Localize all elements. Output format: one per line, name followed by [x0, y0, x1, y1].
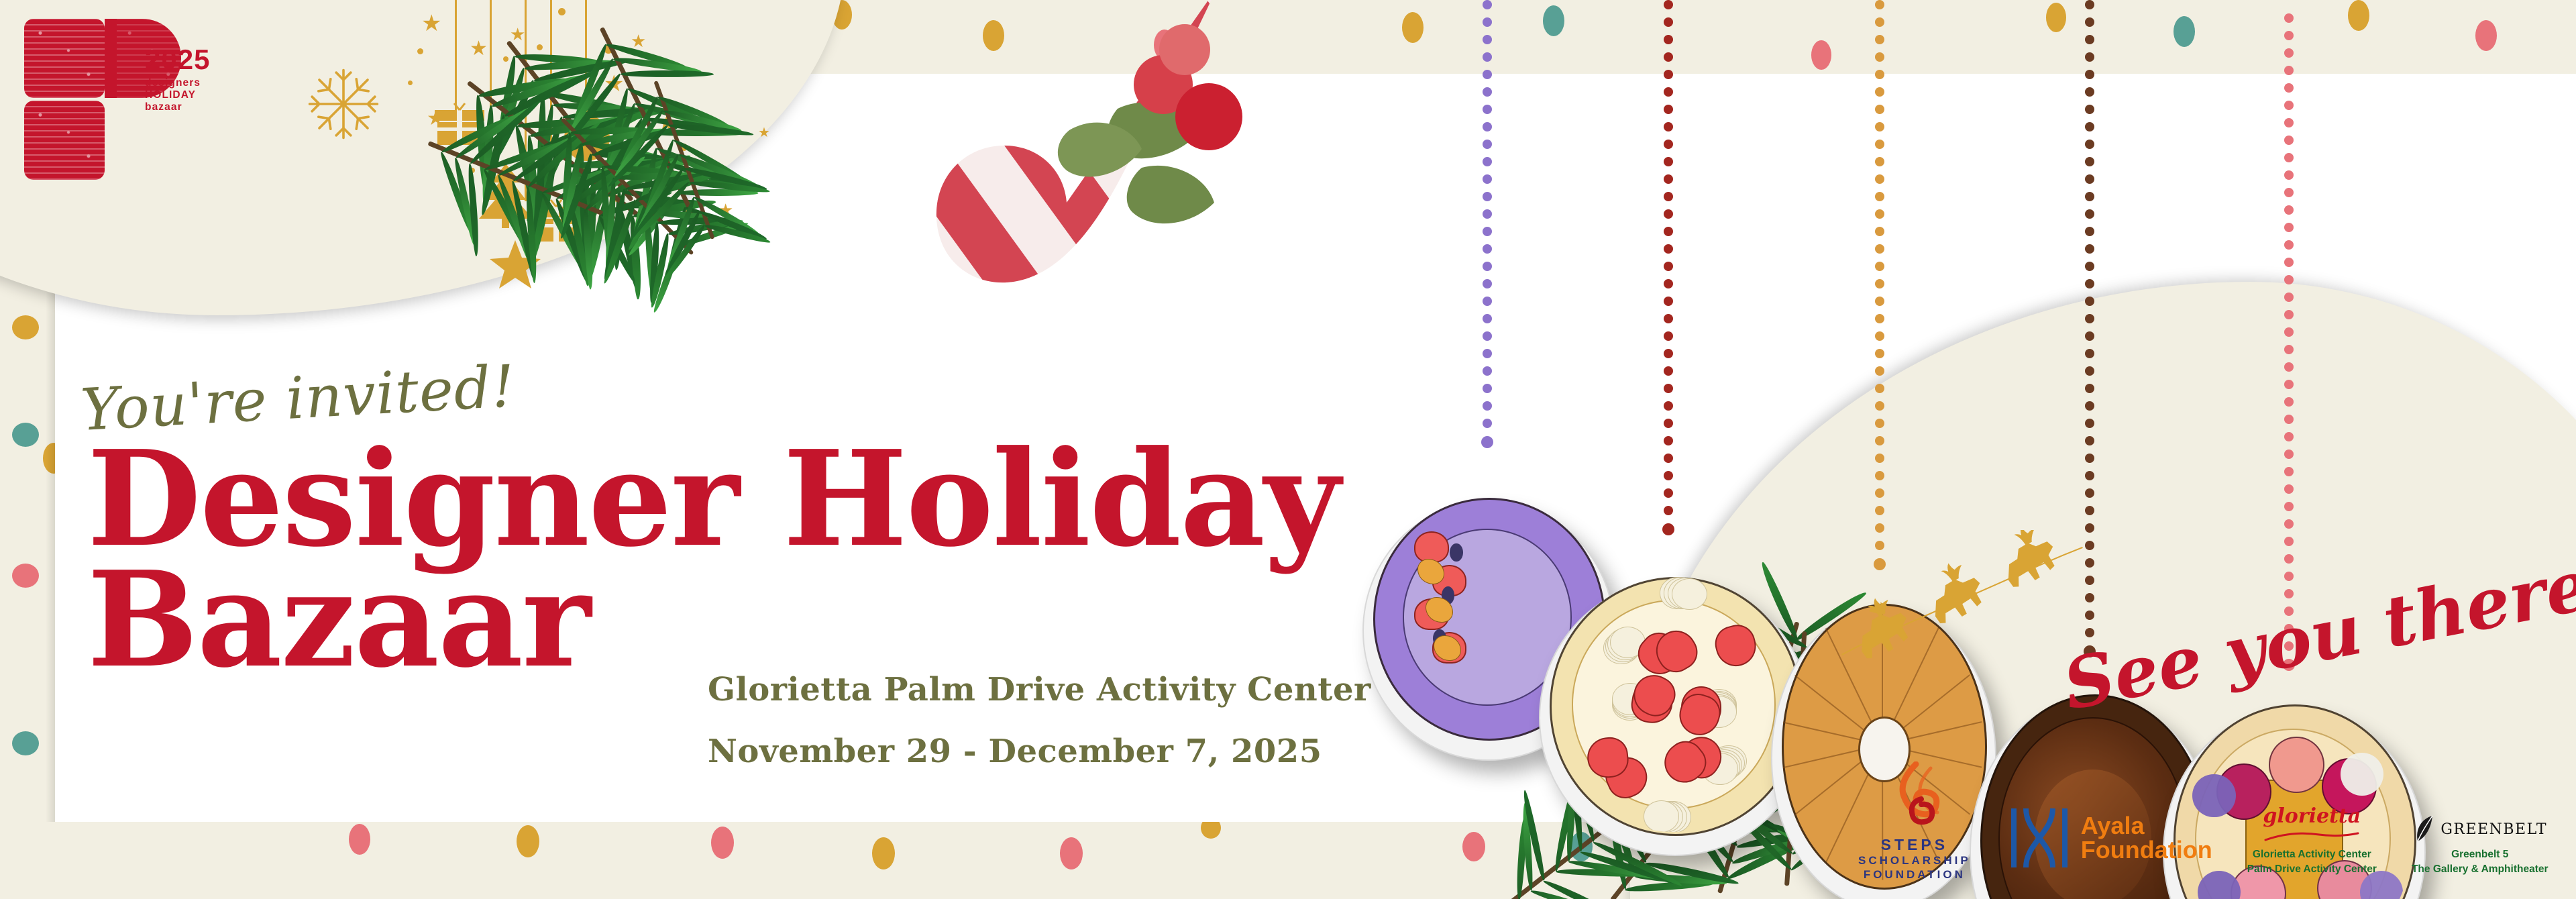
- ornament-bead: [1664, 0, 1673, 9]
- holiday-bazaar-banner: ★★★★★★★★★★★: [0, 0, 2576, 899]
- ornament-bead: [2085, 209, 2094, 219]
- ornament-bead: [2085, 506, 2094, 515]
- ornament-bead: [2284, 310, 2294, 319]
- confetti-dot: [1462, 832, 1485, 861]
- confetti-dot: [12, 731, 39, 755]
- ornament-bead: [1664, 105, 1673, 114]
- star-icon: ★: [758, 126, 770, 140]
- ornament-bead: [1875, 140, 1884, 149]
- ornament-bead: [2085, 262, 2094, 271]
- ornament-bead: [1664, 157, 1673, 166]
- headline-line-2: Bazaar: [87, 557, 590, 683]
- ornament-bead: [1875, 384, 1884, 393]
- confetti-dot: [12, 315, 39, 339]
- ornament-bead: [1483, 349, 1492, 358]
- ornament-bead: [2284, 432, 2294, 441]
- ornament-bead: [1483, 227, 1492, 236]
- ornament-bead: [1483, 105, 1492, 114]
- ornament-bead: [1664, 17, 1673, 27]
- ornament-bead: [1483, 157, 1492, 166]
- ornament-bead: [2085, 314, 2094, 323]
- confetti-dot: [1811, 40, 1831, 70]
- ornament-bead: [1875, 35, 1884, 44]
- ornament-bead: [2085, 419, 2094, 428]
- ornament-bead: [1664, 140, 1673, 149]
- gold-dot: [558, 8, 566, 15]
- ornament-bead: [1483, 366, 1492, 376]
- ornament-bead: [1483, 209, 1492, 219]
- logo-year: 2025: [145, 46, 210, 74]
- ornament-bead: [1483, 35, 1492, 44]
- ornament-bead: [1875, 122, 1884, 131]
- ornament-bead: [2085, 227, 2094, 236]
- ornament-bead: [1483, 174, 1492, 184]
- ornament-bead: [1664, 209, 1673, 219]
- ornament-bead: [1662, 523, 1674, 535]
- ornament-bead: [2284, 397, 2294, 407]
- ornament-bead: [1664, 279, 1673, 288]
- ornament-bead: [1664, 227, 1673, 236]
- ornament-bead: [1875, 262, 1884, 271]
- ornament-bead: [1483, 279, 1492, 288]
- sponsor-greenbelt[interactable]: GREENBELT Greenbelt 5 The Gallery & Amph…: [2412, 814, 2548, 882]
- ornament-bead: [1875, 436, 1884, 445]
- ornament-bead: [1664, 488, 1673, 498]
- ornament-bead: [2284, 83, 2294, 93]
- ornament-bead: [2284, 484, 2294, 494]
- ornament-bead: [1875, 227, 1884, 236]
- steps-title-1: STEPS: [1858, 835, 1971, 854]
- ornament-bead: [2284, 240, 2294, 250]
- ornament-bead: [2284, 223, 2294, 232]
- ornament-bead: [1664, 419, 1673, 428]
- ornament-bead: [1483, 401, 1492, 411]
- snowflake-icon: [303, 64, 384, 144]
- ornament-bead: [1875, 488, 1884, 498]
- confetti-dot: [872, 837, 895, 869]
- ornament-bead: [1875, 209, 1884, 219]
- ornament-bead: [1875, 401, 1884, 411]
- ornament-bead: [1875, 419, 1884, 428]
- steps-title-2: SCHOLARSHIP: [1858, 854, 1971, 868]
- steps-ribbon-icon: [1874, 761, 1955, 835]
- ornament-bead: [2085, 454, 2094, 463]
- ornament-bead: [2085, 70, 2094, 79]
- ornament-bead: [1483, 192, 1492, 201]
- ornament-bead: [2284, 258, 2294, 267]
- ornament-bead: [1875, 244, 1884, 254]
- star-icon: ★: [510, 25, 525, 43]
- ornament-bead: [2085, 105, 2094, 114]
- greenbelt-leaf-icon: [2412, 814, 2439, 844]
- ornament-bead: [2284, 449, 2294, 459]
- confetti-dot: [2348, 0, 2369, 31]
- ornament-bead: [1483, 331, 1492, 341]
- ornament-bead: [2284, 188, 2294, 197]
- ornament-bead: [1664, 192, 1673, 201]
- pine-needle: [613, 109, 666, 178]
- ornament-bead: [2284, 589, 2294, 598]
- ornament-bead: [2284, 327, 2294, 337]
- ornament-bead: [2284, 13, 2294, 23]
- ornament-bead: [1664, 471, 1673, 480]
- ornament-bead: [2284, 66, 2294, 75]
- ornament-bead: [2085, 331, 2094, 341]
- ornament-bead: [2085, 0, 2094, 9]
- ornament-bead: [1875, 105, 1884, 114]
- ornament-bead: [1483, 297, 1492, 306]
- ayala-title-1: Ayala: [2081, 814, 2212, 837]
- ornament-bead: [1875, 192, 1884, 201]
- ornament-bead: [2085, 52, 2094, 62]
- ornament-bead: [1875, 331, 1884, 341]
- ornament-bead: [2085, 192, 2094, 201]
- confetti-dot: [517, 825, 539, 857]
- confetti-dot: [349, 824, 370, 855]
- ornament-bead: [1664, 35, 1673, 44]
- steps-title-3: FOUNDATION: [1858, 868, 1971, 882]
- greenbelt-wordmark: GREENBELT: [2440, 821, 2547, 838]
- ornament-bead: [1875, 279, 1884, 288]
- ornament-bead: [2085, 17, 2094, 27]
- confetti-dot: [12, 423, 39, 447]
- ornament-bead: [1481, 436, 1493, 448]
- sponsor-glorietta[interactable]: glorietta Glorietta Activity Center Palm…: [2247, 804, 2377, 882]
- glorietta-swash-icon: [2261, 828, 2362, 844]
- ornament-bead: [2085, 122, 2094, 131]
- ornament-bead: [1875, 297, 1884, 306]
- ornament-bead: [2085, 471, 2094, 480]
- pine-needle: [621, 70, 714, 77]
- ornament-bead: [1664, 436, 1673, 445]
- ornament-bead: [1483, 17, 1492, 27]
- ornament-bead: [1875, 157, 1884, 166]
- ornament-bead: [2284, 572, 2294, 581]
- ornament-bead: [2284, 554, 2294, 564]
- ornament-bead: [2284, 170, 2294, 180]
- ornament-bead: [2284, 275, 2294, 284]
- gold-dot: [417, 48, 423, 54]
- ornament-bead: [2284, 502, 2294, 511]
- confetti-dot: [12, 564, 39, 588]
- dhb-logo: 2025 designers HOLIDAY bazaar: [17, 7, 286, 114]
- logo-line1: designers: [145, 77, 201, 89]
- confetti-dot: [2046, 3, 2066, 32]
- venue-text: Glorietta Palm Drive Activity Center: [708, 671, 1371, 708]
- ornament-bead: [2284, 345, 2294, 354]
- ornament-bead: [2284, 293, 2294, 302]
- ornament-bead: [2284, 136, 2294, 145]
- ornament-bead: [2085, 35, 2094, 44]
- greenbelt-caption-1: Greenbelt 5: [2412, 847, 2548, 862]
- ornament-bead: [2085, 436, 2094, 445]
- ornament-bead: [2284, 362, 2294, 372]
- ornament-bead: [2284, 31, 2294, 40]
- ornament-bead: [1664, 122, 1673, 131]
- ornament-bead: [2085, 297, 2094, 306]
- ornament-bead: [2085, 140, 2094, 149]
- ornament-bead: [1483, 52, 1492, 62]
- confetti-dot: [711, 827, 734, 859]
- ornament-bead: [1875, 366, 1884, 376]
- ornament-bead: [2085, 157, 2094, 166]
- ornament-bead: [1483, 70, 1492, 79]
- ornament-bead: [1875, 349, 1884, 358]
- ornament-bead: [1875, 17, 1884, 27]
- greenbelt-caption-2: The Gallery & Amphitheater: [2412, 862, 2548, 877]
- ornament-bead: [2284, 205, 2294, 215]
- ornament-bead: [1875, 471, 1884, 480]
- ornament-bead: [1664, 244, 1673, 254]
- ornament-bead: [1875, 314, 1884, 323]
- ornament-bead: [1483, 419, 1492, 428]
- star-icon: ★: [470, 39, 488, 59]
- ornament-bead: [1664, 87, 1673, 97]
- star-icon: ★: [421, 12, 441, 35]
- ornament-bead: [2085, 279, 2094, 288]
- ornament-bead: [1483, 384, 1492, 393]
- ornament-bead: [1483, 140, 1492, 149]
- ornament-bead: [1875, 0, 1884, 9]
- ornament-bead: [2085, 349, 2094, 358]
- glorietta-caption-1: Glorietta Activity Center: [2247, 847, 2377, 862]
- dates-text: November 29 - December 7, 2025: [708, 733, 1322, 770]
- ornament-bead: [2284, 519, 2294, 529]
- gold-dot: [408, 81, 413, 85]
- ornament-bead: [1664, 297, 1673, 306]
- ayala-mark-icon: [2006, 806, 2073, 870]
- ornament-bead: [2284, 467, 2294, 476]
- ornament-bead: [2085, 244, 2094, 254]
- confetti-dot: [2475, 20, 2497, 51]
- ornament-bead: [1875, 174, 1884, 184]
- gold-dot: [537, 44, 543, 50]
- cake-strawberry-banana-cream-pie: [1550, 577, 1802, 836]
- ornament-bead: [1664, 401, 1673, 411]
- sponsor-logos: STEPS SCHOLARSHIP FOUNDATION Ayala Found…: [1858, 761, 2548, 882]
- ayala-title-2: Foundation: [2081, 838, 2212, 861]
- ornament-bead: [1664, 366, 1673, 376]
- ornament-bead: [2284, 48, 2294, 58]
- glorietta-caption-2: Palm Drive Activity Center: [2247, 862, 2377, 877]
- ornament-bead: [1483, 314, 1492, 323]
- sponsor-ayala-foundation[interactable]: Ayala Foundation: [2006, 806, 2212, 882]
- ornament-bead: [1664, 262, 1673, 271]
- logo-line3: bazaar: [145, 101, 182, 113]
- ornament-bead: [1875, 52, 1884, 62]
- ornament-bead: [2085, 87, 2094, 97]
- confetti-dot: [2173, 16, 2195, 47]
- ornament-bead: [1483, 87, 1492, 97]
- ornament-bead: [1483, 122, 1492, 131]
- ornament-bead: [1664, 384, 1673, 393]
- ornament-bead: [1664, 52, 1673, 62]
- ornament-bead: [1483, 0, 1492, 9]
- ornament-bead: [2284, 118, 2294, 127]
- confetti-dot: [1543, 5, 1564, 36]
- ornament-bead: [2085, 174, 2094, 184]
- ornament-bead: [1875, 87, 1884, 97]
- ornament-bead: [1875, 454, 1884, 463]
- ornament-bead: [1664, 454, 1673, 463]
- ornament-bead: [2085, 366, 2094, 376]
- ornament-bead: [1875, 70, 1884, 79]
- confetti-dot: [1402, 12, 1424, 43]
- ornament-bead: [1875, 506, 1884, 515]
- ornament-bead: [1483, 262, 1492, 271]
- ornament-bead: [2085, 401, 2094, 411]
- ornament-bead: [2085, 488, 2094, 498]
- star-icon: ★: [631, 32, 646, 50]
- ornament-bead: [2284, 380, 2294, 389]
- ornament-bead: [1664, 174, 1673, 184]
- ornament-bead: [1664, 349, 1673, 358]
- glorietta-wordmark: glorietta: [2263, 804, 2361, 828]
- candy-cane-icon: [906, 0, 1308, 329]
- logo-line2: HOLIDAY: [145, 89, 210, 101]
- confetti-dot: [1060, 837, 1083, 869]
- ornament-bead: [2284, 153, 2294, 162]
- ornament-bead: [2284, 101, 2294, 110]
- ornament-bead: [1664, 506, 1673, 515]
- ornament-bead: [1664, 314, 1673, 323]
- ornament-bead: [1664, 70, 1673, 79]
- sponsor-steps-scholarship-foundation[interactable]: STEPS SCHOLARSHIP FOUNDATION: [1858, 761, 1971, 882]
- ornament-bead: [2284, 537, 2294, 546]
- ornament-bead: [2085, 384, 2094, 393]
- ornament-bead: [1483, 244, 1492, 254]
- ornament-bead: [2284, 415, 2294, 424]
- ornament-bead: [1664, 331, 1673, 341]
